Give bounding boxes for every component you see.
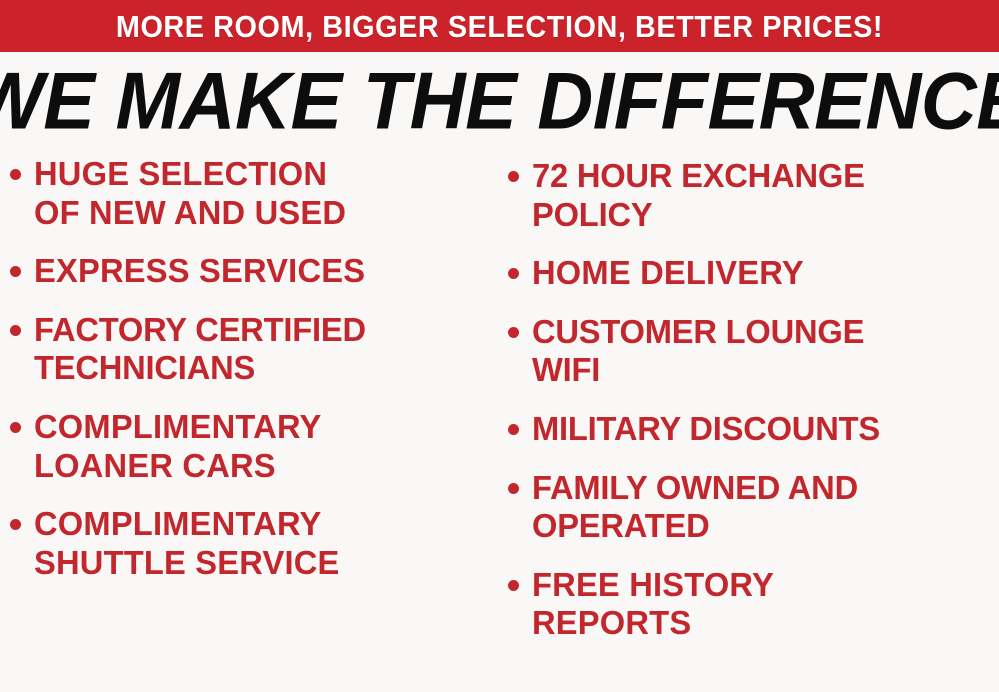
list-item-label: MILITARY DISCOUNTS: [532, 410, 994, 449]
bullet-dot-icon: [10, 519, 21, 530]
list-item-label: COMPLIMENTARY LOANER CARS: [34, 408, 495, 485]
list-item-label: 72 HOUR EXCHANGE POLICY: [532, 157, 994, 234]
features-columns: HUGE SELECTION OF NEW AND USED EXPRESS S…: [0, 155, 999, 692]
list-item-label: HOME DELIVERY: [532, 254, 994, 293]
list-item: HUGE SELECTION OF NEW AND USED: [10, 155, 500, 232]
list-item: 72 HOUR EXCHANGE POLICY: [508, 157, 999, 234]
list-item-label: FACTORY CERTIFIED TECHNICIANS: [34, 311, 495, 388]
bullet-dot-icon: [508, 483, 519, 494]
promo-poster: MORE ROOM, BIGGER SELECTION, BETTER PRIC…: [0, 0, 999, 692]
bullet-dot-icon: [508, 171, 519, 182]
list-item-label: EXPRESS SERVICES: [34, 252, 495, 291]
list-item: FAMILY OWNED AND OPERATED: [508, 469, 999, 546]
list-item: MILITARY DISCOUNTS: [508, 410, 999, 449]
list-item-label: CUSTOMER LOUNGE WIFI: [532, 313, 994, 390]
bullet-dot-icon: [508, 580, 519, 591]
list-item-label: COMPLIMENTARY SHUTTLE SERVICE: [34, 505, 495, 582]
list-item: FACTORY CERTIFIED TECHNICIANS: [10, 311, 500, 388]
list-item: CUSTOMER LOUNGE WIFI: [508, 313, 999, 390]
headline-container: WE MAKE THE DIFFERENCE: [0, 63, 999, 141]
features-column-right: 72 HOUR EXCHANGE POLICY HOME DELIVERY CU…: [508, 155, 999, 663]
bullet-dot-icon: [508, 424, 519, 435]
list-item-label: FREE HISTORY REPORTS: [532, 566, 994, 643]
list-item: HOME DELIVERY: [508, 254, 999, 293]
bullet-dot-icon: [508, 327, 519, 338]
list-item-label: HUGE SELECTION OF NEW AND USED: [34, 155, 495, 232]
banner-headline-text: MORE ROOM, BIGGER SELECTION, BETTER PRIC…: [116, 11, 883, 42]
page-title: WE MAKE THE DIFFERENCE: [0, 62, 999, 143]
bullet-dot-icon: [10, 325, 21, 336]
list-item: COMPLIMENTARY SHUTTLE SERVICE: [10, 505, 500, 582]
list-item: EXPRESS SERVICES: [10, 252, 500, 291]
list-item: FREE HISTORY REPORTS: [508, 566, 999, 643]
bullet-dot-icon: [10, 169, 21, 180]
bullet-dot-icon: [508, 268, 519, 279]
bullet-dot-icon: [10, 266, 21, 277]
list-item-label: FAMILY OWNED AND OPERATED: [532, 469, 994, 546]
list-item: COMPLIMENTARY LOANER CARS: [10, 408, 500, 485]
bullet-dot-icon: [10, 422, 21, 433]
top-banner: MORE ROOM, BIGGER SELECTION, BETTER PRIC…: [0, 0, 999, 52]
features-column-left: HUGE SELECTION OF NEW AND USED EXPRESS S…: [10, 155, 500, 602]
